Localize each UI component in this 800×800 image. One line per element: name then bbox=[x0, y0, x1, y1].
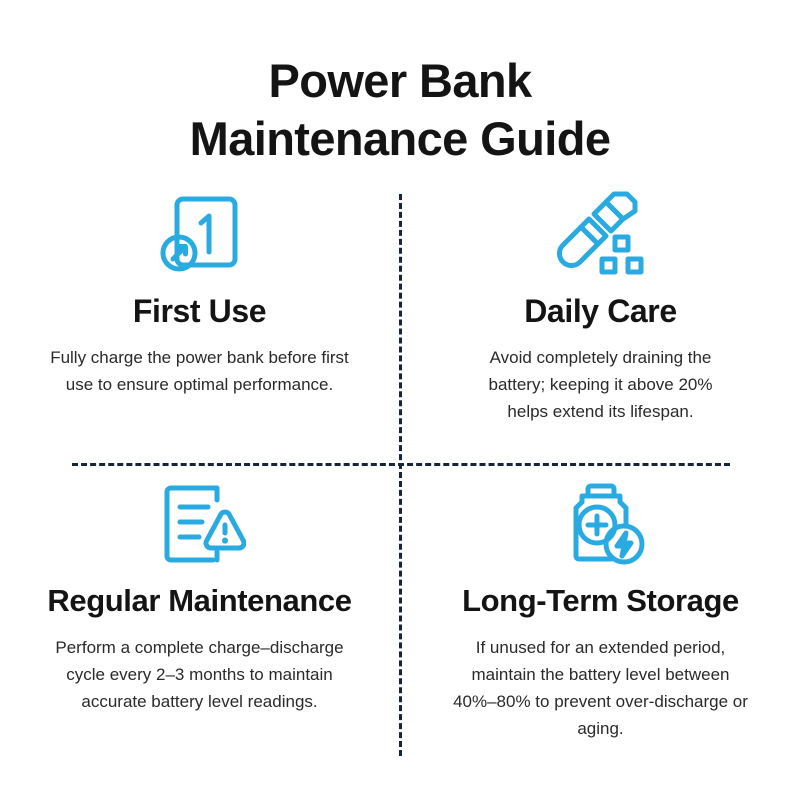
card-first-use: First Use Fully charge the power bank be… bbox=[2, 188, 397, 398]
card-body: Perform a complete charge–discharge cycl… bbox=[50, 634, 350, 715]
card-heading: Regular Maintenance bbox=[2, 582, 397, 620]
card-heading: Daily Care bbox=[403, 292, 798, 330]
card-regular-maintenance: Regular Maintenance Perform a complete c… bbox=[2, 478, 397, 715]
screwdriver-tools-icon bbox=[403, 188, 798, 280]
card-heading: Long-Term Storage bbox=[403, 582, 798, 620]
title-line-1: Power Bank bbox=[0, 52, 800, 110]
card-body: Fully charge the power bank before first… bbox=[50, 344, 350, 398]
card-heading: First Use bbox=[2, 292, 397, 330]
tips-grid: First Use Fully charge the power bank be… bbox=[0, 188, 800, 772]
battery-charge-icon bbox=[403, 478, 798, 570]
card-body: Avoid completely draining the battery; k… bbox=[467, 344, 735, 425]
number-one-square-icon bbox=[2, 188, 397, 280]
infographic-poster: Power Bank Maintenance Guide First Use F… bbox=[0, 0, 800, 800]
page-title: Power Bank Maintenance Guide bbox=[0, 52, 800, 168]
document-warning-icon bbox=[2, 478, 397, 570]
card-daily-care: Daily Care Avoid completely draining the… bbox=[403, 188, 798, 425]
title-line-2: Maintenance Guide bbox=[0, 110, 800, 168]
card-body: If unused for an extended period, mainta… bbox=[451, 634, 751, 742]
card-long-term-storage: Long-Term Storage If unused for an exten… bbox=[403, 478, 798, 742]
